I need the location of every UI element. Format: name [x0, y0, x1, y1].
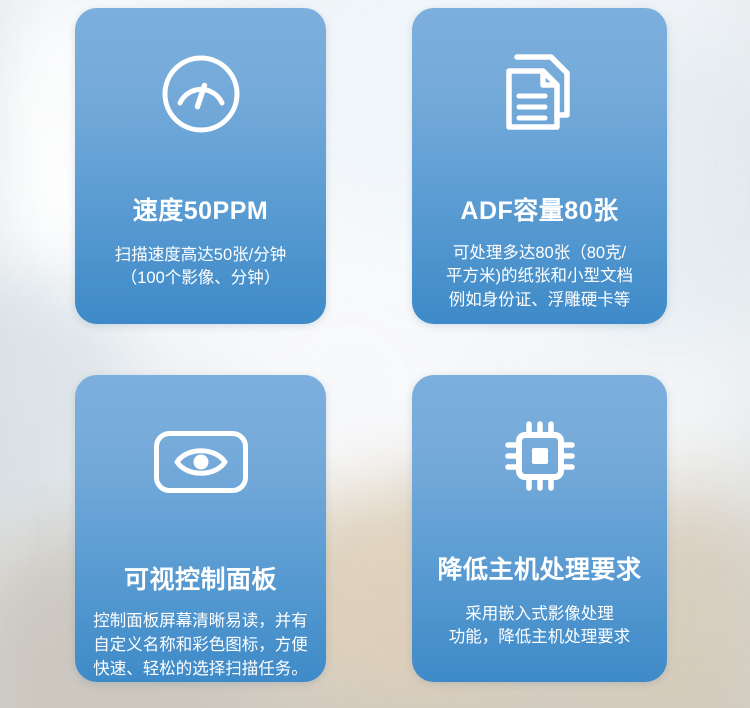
card-title: 可视控制面板 [75, 567, 326, 595]
feature-card-control-panel[interactable]: 可视控制面板 控制面板屏幕清晰易读，并有 自定义名称和彩色图标，方便 快速、轻松… [75, 375, 326, 682]
card-title: 速度50PPM [75, 198, 326, 226]
speedometer-icon [75, 30, 326, 158]
eye-panel-icon [75, 407, 326, 517]
documents-icon [412, 28, 667, 156]
card-description: 控制面板屏幕清晰易读，并有 自定义名称和彩色图标，方便 快速、轻松的选择扫描任务… [75, 610, 326, 682]
card-description: 扫描速度高达50张/分钟 （100个影像、分钟） [75, 244, 326, 292]
card-description: 采用嵌入式影像处理 功能，降低主机处理要求 [412, 603, 667, 651]
card-title: 降低主机处理要求 [412, 557, 667, 585]
feature-card-speed[interactable]: 速度50PPM 扫描速度高达50张/分钟 （100个影像、分钟） [75, 8, 326, 324]
feature-card-host-processing[interactable]: 降低主机处理要求 采用嵌入式影像处理 功能，降低主机处理要求 [412, 375, 667, 682]
feature-card-adf-capacity[interactable]: ADF容量80张 可处理多达80张（80克/ 平方米)的纸张和小型文档 例如身份… [412, 8, 667, 324]
card-title: ADF容量80张 [412, 198, 667, 226]
cpu-chip-icon [412, 397, 667, 515]
card-description: 可处理多达80张（80克/ 平方米)的纸张和小型文档 例如身份证、浮雕硬卡等 [412, 242, 667, 314]
feature-card-grid: 速度50PPM 扫描速度高达50张/分钟 （100个影像、分钟） ADF容量80… [0, 0, 750, 708]
